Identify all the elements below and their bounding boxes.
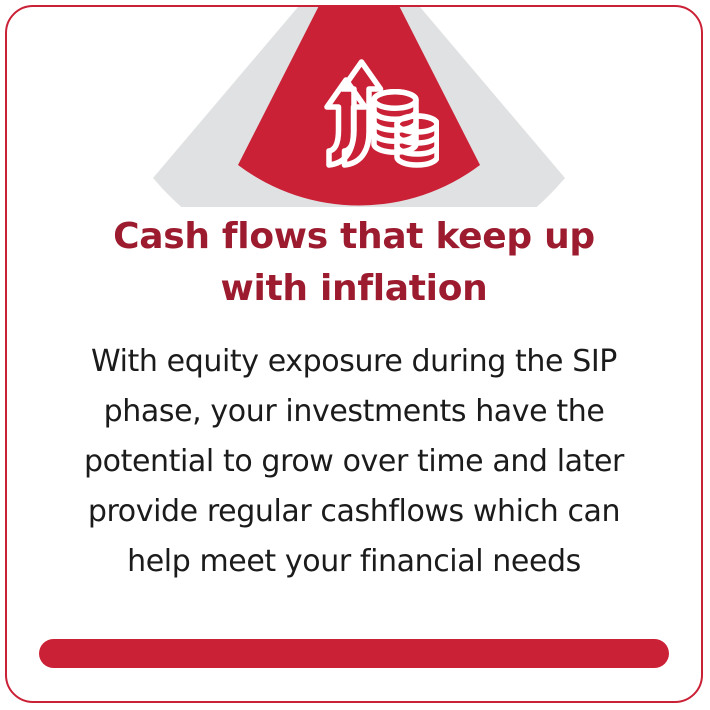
body-line-2: phase, your investments have the <box>31 387 677 437</box>
coin-stack-tall-icon <box>374 92 416 152</box>
body-line-4: provide regular cashflows which can <box>31 487 677 537</box>
growth-arrows-coins-icon <box>299 37 439 177</box>
arrow-up-large-icon <box>343 62 381 165</box>
fan-red-sector <box>238 7 480 206</box>
card-body-text: With equity exposure during the SIP phas… <box>31 337 677 587</box>
info-card: Cash flows that keep up with inflation W… <box>5 5 703 703</box>
bottom-accent-bar <box>39 639 669 668</box>
headline-line-2: with inflation <box>7 263 701 315</box>
arrow-up-small-icon <box>327 80 365 165</box>
icon-fan-container <box>7 7 701 207</box>
fan-backdrop <box>7 7 701 207</box>
card-headline: Cash flows that keep up with inflation <box>7 211 701 315</box>
body-line-5: help meet your financial needs <box>31 537 677 587</box>
coin-stack-short-icon <box>397 116 437 165</box>
headline-line-1: Cash flows that keep up <box>113 216 595 257</box>
body-line-3: potential to grow over time and later <box>31 437 677 487</box>
fan-gray-sector <box>153 7 565 207</box>
body-line-1: With equity exposure during the SIP <box>31 337 677 387</box>
